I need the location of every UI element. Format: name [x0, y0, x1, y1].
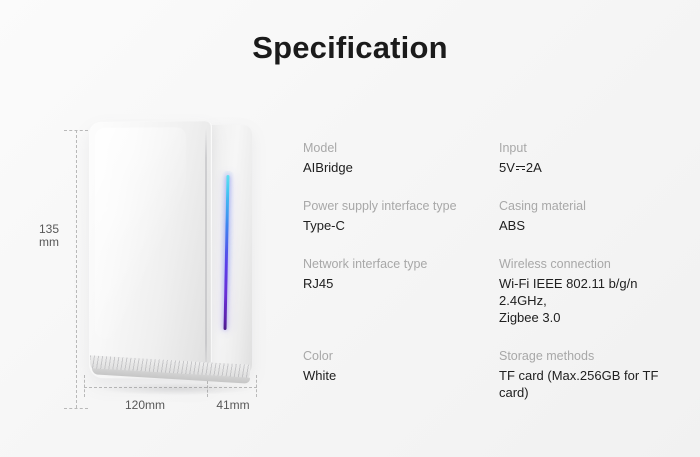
height-dimension-tick-bottom — [64, 408, 88, 409]
spec-item-network-interface: Network interface type RJ45 — [303, 256, 499, 326]
spec-row: Model AIBridge Input 5V2A — [303, 140, 695, 176]
height-dimension-line — [76, 130, 77, 408]
spec-item-wireless-connection: Wireless connection Wi-Fi IEEE 802.11 b/… — [499, 256, 695, 326]
device-front-panel — [89, 121, 212, 379]
spec-row: Color White Storage methods TF card (Max… — [303, 348, 695, 401]
input-current: 2A — [526, 160, 542, 175]
height-dimension-label: 135 mm — [28, 223, 70, 249]
spec-item-power-supply-interface: Power supply interface type Type-C — [303, 198, 499, 234]
spec-label: Model — [303, 140, 491, 157]
spec-label: Color — [303, 348, 491, 365]
spec-value: RJ45 — [303, 275, 491, 292]
spec-item-model: Model AIBridge — [303, 140, 499, 176]
specification-grid: Model AIBridge Input 5V2A Power supply i… — [303, 140, 695, 423]
input-voltage: 5V — [499, 160, 515, 175]
device-drop-shadow — [102, 383, 252, 395]
width-dimension-label: 120mm — [100, 399, 190, 412]
spec-row: Power supply interface type Type-C Casin… — [303, 198, 695, 234]
page-title: Specification — [0, 30, 700, 66]
device-panel-seam — [205, 129, 207, 373]
dc-power-icon — [515, 162, 526, 173]
spec-item-input: Input 5V2A — [499, 140, 695, 176]
spec-value: Type-C — [303, 217, 491, 234]
product-illustration: 135 mm 120mm 41mm — [0, 105, 290, 425]
spec-label: Input — [499, 140, 687, 157]
spec-label: Network interface type — [303, 256, 491, 273]
spec-value: AIBridge — [303, 159, 491, 176]
spec-label: Storage methods — [499, 348, 687, 365]
spec-item-color: Color White — [303, 348, 499, 401]
depth-dimension-label: 41mm — [205, 399, 261, 412]
width-dimension-tick-left — [84, 375, 85, 397]
spec-label: Wireless connection — [499, 256, 687, 273]
device-side-panel — [206, 125, 252, 375]
spec-row: Network interface type RJ45 Wireless con… — [303, 256, 695, 326]
device-render — [88, 117, 258, 389]
height-dimension-tick-top — [64, 130, 88, 131]
spec-value: 5V2A — [499, 159, 687, 176]
spec-value: Wi-Fi IEEE 802.11 b/g/n 2.4GHz, Zigbee 3… — [499, 275, 687, 326]
spec-item-casing-material: Casing material ABS — [499, 198, 695, 234]
spec-label: Power supply interface type — [303, 198, 491, 215]
spec-label: Casing material — [499, 198, 687, 215]
spec-item-storage-methods: Storage methods TF card (Max.256GB for T… — [499, 348, 695, 401]
spec-value: White — [303, 367, 491, 384]
spec-value: TF card (Max.256GB for TF card) — [499, 367, 687, 401]
spec-value: ABS — [499, 217, 687, 234]
